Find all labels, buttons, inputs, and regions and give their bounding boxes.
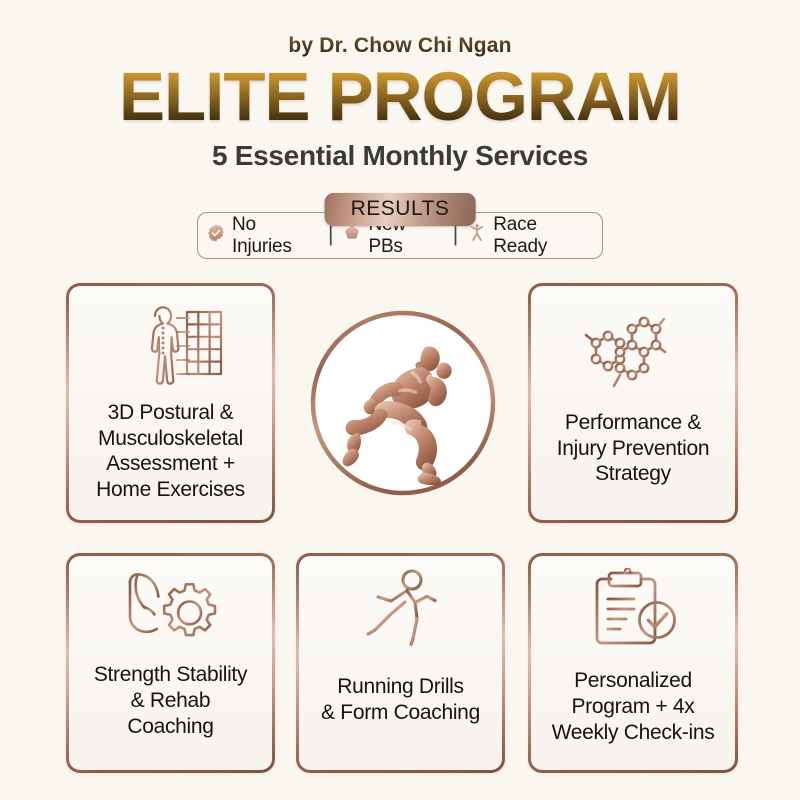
byline: by Dr. Chow Chi Ngan — [0, 34, 800, 58]
results-badge: RESULTS No Injuries — [197, 193, 603, 261]
center-medallion — [307, 307, 499, 499]
service-card-strategy[interactable]: Performance & Injury Prevention Strategy — [528, 283, 738, 523]
card-label-line: Performance & — [557, 410, 709, 436]
card-label-line: Home Exercises — [96, 477, 245, 503]
card-label-line: 3D Postural & — [96, 400, 245, 426]
service-card-drills[interactable]: Running Drills & Form Coaching — [296, 553, 505, 773]
clipboard-check-icon — [581, 568, 685, 652]
card-label: 3D Postural & Musculoskeletal Assessment… — [96, 400, 245, 502]
results-pill-label: RESULTS — [325, 193, 476, 226]
pentagon-icon — [342, 223, 362, 249]
card-label-line: Injury Prevention — [557, 436, 709, 462]
celebrating-person-icon — [467, 222, 487, 249]
card-label-line: Musculoskeletal — [96, 426, 245, 452]
page-title: ELITE PROGRAM — [0, 62, 800, 131]
card-label-line: & Form Coaching — [321, 700, 480, 726]
page-subtitle: 5 Essential Monthly Services — [0, 140, 800, 172]
sprinting-runner-icon — [321, 321, 485, 485]
infographic-canvas: by Dr. Chow Chi Ngan ELITE PROGRAM 5 Ess… — [0, 0, 800, 800]
seal-check-icon — [206, 223, 226, 249]
result-item-no-injuries: No Injuries — [197, 214, 328, 258]
card-label-line: Strength Stability — [94, 662, 247, 688]
card-label-line: & Rehab — [94, 688, 247, 714]
result-item-race-ready: Race Ready — [458, 214, 603, 258]
card-label: Personalized Program + 4x Weekly Check-i… — [552, 668, 715, 746]
posture-body-grid-icon — [111, 302, 231, 388]
service-card-personalized[interactable]: Personalized Program + 4x Weekly Check-i… — [528, 553, 738, 773]
card-label-line: Strategy — [557, 461, 709, 487]
result-label: Race Ready — [493, 214, 594, 258]
card-label: Strength Stability & Rehab Coaching — [94, 662, 247, 740]
card-label-line: Personalized — [552, 668, 715, 694]
molecule-network-icon — [578, 308, 688, 394]
card-label: Running Drills & Form Coaching — [321, 674, 480, 726]
card-label-line: Program + 4x — [552, 694, 715, 720]
card-label-line: Assessment + — [96, 451, 245, 477]
card-label-line: Coaching — [94, 714, 247, 740]
service-card-strength[interactable]: Strength Stability & Rehab Coaching — [66, 553, 275, 773]
card-label: Performance & Injury Prevention Strategy — [557, 410, 709, 487]
card-label-line: Weekly Check-ins — [552, 720, 715, 746]
service-card-assessment[interactable]: 3D Postural & Musculoskeletal Assessment… — [66, 283, 275, 523]
card-label-line: Running Drills — [321, 674, 480, 700]
running-figure-icon — [351, 568, 451, 650]
flexed-bicep-gear-icon — [116, 570, 226, 648]
result-label: No Injuries — [232, 214, 319, 258]
